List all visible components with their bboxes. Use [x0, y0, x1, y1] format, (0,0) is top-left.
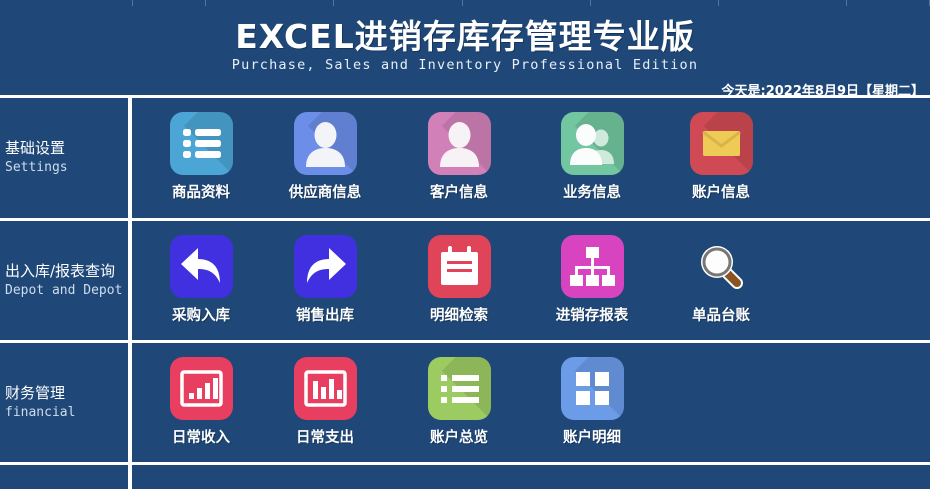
- green-list-icon-glyph: [428, 357, 491, 420]
- tile-account-detail[interactable]: 账户明细: [525, 343, 659, 462]
- list-icon: [170, 112, 233, 175]
- tile-label: 日常支出: [296, 426, 354, 447]
- section-row-next: [0, 462, 930, 489]
- magnifier-icon: [690, 235, 753, 298]
- bar-chart-down-icon: [294, 357, 357, 420]
- section-title-cn: 出入库/报表查询: [5, 261, 127, 281]
- section-divider: [128, 343, 132, 462]
- person-icon: [294, 112, 357, 175]
- tile-goods-info[interactable]: 商品资料: [134, 98, 268, 218]
- tile-label: 单品台账: [692, 304, 750, 325]
- section-divider: [128, 221, 132, 340]
- list-icon-glyph: [170, 112, 233, 175]
- two-people-icon: [561, 112, 624, 175]
- tile-inventory-report[interactable]: 进销存报表: [525, 221, 659, 340]
- app-header: EXCEL进销存库存管理专业版 Purchase, Sales and Inve…: [0, 6, 930, 95]
- notepad-icon: [428, 235, 491, 298]
- section-label-financial: 财务管理 financial: [0, 343, 127, 462]
- envelope-icon-glyph: [690, 112, 753, 175]
- person-icon-glyph: [294, 112, 357, 175]
- tile-label: 日常收入: [172, 426, 230, 447]
- excel-dashboard-sheet: EXCEL进销存库存管理专业版 Purchase, Sales and Inve…: [0, 0, 930, 489]
- tile-daily-expense[interactable]: 日常支出: [258, 343, 392, 462]
- dashboard-body: 基础设置 Settings: [0, 95, 930, 489]
- tile-label: 账户信息: [692, 181, 750, 202]
- tile-label: 客户信息: [430, 181, 488, 202]
- arrow-left-curve-icon: [170, 235, 233, 298]
- section-title-cn: 基础设置: [5, 138, 127, 158]
- tile-purchase-inbound[interactable]: 采购入库: [134, 221, 268, 340]
- envelope-icon: [690, 112, 753, 175]
- tile-label: 进销存报表: [556, 304, 629, 325]
- section-divider: [128, 98, 132, 218]
- person-icon: [428, 112, 491, 175]
- notepad-icon-glyph: [428, 235, 491, 298]
- tile-sales-outbound[interactable]: 销售出库: [258, 221, 392, 340]
- tile-label: 账户总览: [430, 426, 488, 447]
- tile-label: 采购入库: [172, 304, 230, 325]
- tile-account-overview[interactable]: 账户总览: [392, 343, 526, 462]
- tile-label: 销售出库: [296, 304, 354, 325]
- bar-chart-up-icon-glyph: [170, 357, 233, 420]
- section-row-settings: 基础设置 Settings: [0, 95, 930, 218]
- section-title-en: Depot and Depot: [5, 281, 127, 301]
- org-chart-icon: [561, 235, 624, 298]
- four-squares-icon: [561, 357, 624, 420]
- tile-customer-info[interactable]: 客户信息: [392, 98, 526, 218]
- tile-label: 供应商信息: [289, 181, 362, 202]
- tile-label: 商品资料: [172, 181, 230, 202]
- two-people-icon-glyph: [561, 112, 624, 175]
- tile-business-info[interactable]: 业务信息: [525, 98, 659, 218]
- org-chart-icon-glyph: [561, 235, 624, 298]
- page-title: EXCEL进销存库存管理专业版: [0, 10, 930, 58]
- tile-account-info[interactable]: 账户信息: [654, 98, 788, 218]
- tile-detail-search[interactable]: 明细检索: [392, 221, 526, 340]
- section-divider: [128, 465, 132, 489]
- arrow-left-curve-icon-glyph: [170, 235, 233, 298]
- bar-chart-up-icon: [170, 357, 233, 420]
- arrow-right-curve-icon: [294, 235, 357, 298]
- page-subtitle: Purchase, Sales and Inventory Profession…: [0, 57, 930, 73]
- tile-label: 账户明细: [563, 426, 621, 447]
- section-tiles-settings: 商品资料 供应商信息: [134, 98, 930, 218]
- section-label-depot: 出入库/报表查询 Depot and Depot: [0, 221, 127, 340]
- green-list-icon: [428, 357, 491, 420]
- tile-label: 业务信息: [563, 181, 621, 202]
- magnifier-icon-glyph: [690, 235, 753, 298]
- section-title-en: financial: [5, 403, 127, 423]
- section-title-en: Settings: [5, 158, 127, 178]
- section-row-financial: 财务管理 financial 日常收入: [0, 340, 930, 462]
- section-tiles-financial: 日常收入 日常支出: [134, 343, 930, 462]
- section-title-cn: 财务管理: [5, 383, 127, 403]
- four-squares-icon-glyph: [561, 357, 624, 420]
- section-row-depot: 出入库/报表查询 Depot and Depot 采购入库: [0, 218, 930, 340]
- person-icon-glyph: [428, 112, 491, 175]
- bar-chart-down-icon-glyph: [294, 357, 357, 420]
- tile-label: 明细检索: [430, 304, 488, 325]
- arrow-right-curve-icon-glyph: [294, 235, 357, 298]
- section-tiles-depot: 采购入库 销售出库: [134, 221, 930, 340]
- tile-supplier-info[interactable]: 供应商信息: [258, 98, 392, 218]
- tile-item-ledger[interactable]: 单品台账: [654, 221, 788, 340]
- tile-daily-income[interactable]: 日常收入: [134, 343, 268, 462]
- section-label-settings: 基础设置 Settings: [0, 98, 127, 218]
